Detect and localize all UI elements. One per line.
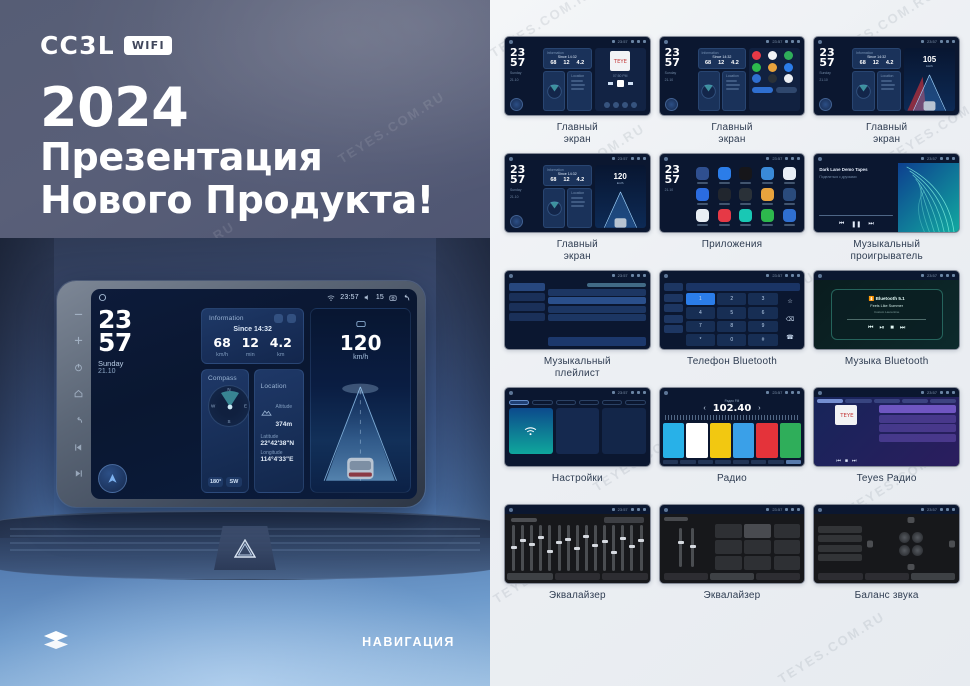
balance-front-button xyxy=(908,517,915,523)
wifi-icon xyxy=(766,274,769,277)
gallery-item[interactable]: 23:57 Настройки xyxy=(504,387,651,500)
volume-icon xyxy=(940,508,943,511)
app-label xyxy=(719,224,730,226)
app-label xyxy=(784,203,795,205)
next-icon xyxy=(628,82,633,85)
thumb-music-playlist[interactable]: 23:57 xyxy=(504,270,651,350)
eq-footer-tab xyxy=(756,573,800,580)
dialpad-key: 1 xyxy=(686,293,715,305)
volume-icon[interactable] xyxy=(364,294,371,301)
radio-tool-button xyxy=(733,460,749,464)
thumb-music-player[interactable]: 23:57 Dark Lane Demo Tapes Поделиться с … xyxy=(813,153,960,233)
gallery-item-caption: Радио xyxy=(717,473,747,498)
app-icon xyxy=(739,209,752,222)
home-icon xyxy=(509,157,513,161)
thumb-bluetooth-music[interactable]: 23:57 ⏫ Bluetooth 5.1 Feels Like Summer … xyxy=(813,270,960,350)
playlist-track-row xyxy=(548,289,646,296)
volume-icon xyxy=(631,40,634,43)
playlist-now-playing-bar xyxy=(548,337,646,346)
layers-icon[interactable] xyxy=(43,630,69,652)
compass-needle-icon xyxy=(209,386,251,428)
compass-widget[interactable]: Compass N E S W xyxy=(201,369,249,494)
wifi-icon xyxy=(612,274,615,277)
application-item xyxy=(758,209,777,226)
thumb-time: 23:57 xyxy=(618,507,628,512)
screenshot-icon xyxy=(791,391,794,394)
bt-progress-bar xyxy=(847,319,926,320)
next-track-icon[interactable] xyxy=(74,469,83,478)
eq-band-slider xyxy=(576,525,579,571)
next-icon: ⏭ xyxy=(900,325,905,332)
wifi-icon[interactable] xyxy=(327,294,335,302)
thumb-home-screen-media[interactable]: 23:57 23 57 Sunday 21.10 Information Sin… xyxy=(504,36,651,116)
dialpad-key: 9 xyxy=(748,321,777,333)
minus-icon[interactable] xyxy=(74,310,83,319)
wifi-badge: WIFI xyxy=(124,36,172,55)
thumb-home-screen-nav[interactable]: 23:57 23 57 Sunday 21.10 Information Sin… xyxy=(504,153,651,233)
thumb-status-bar: 23:57 xyxy=(505,154,650,163)
app-icon xyxy=(761,167,774,180)
eq-slider-knob xyxy=(592,544,598,547)
head-unit-screen[interactable]: 23:57 15 23 xyxy=(91,289,417,499)
eq-preset-button xyxy=(774,540,801,554)
hd-icon xyxy=(356,320,366,328)
eq-footer-tab xyxy=(555,573,601,580)
wifi-icon xyxy=(921,40,924,43)
teyes-controls: ⏮■⏭ xyxy=(836,458,856,464)
thumb-media-extra xyxy=(604,102,637,108)
home-icon xyxy=(664,40,668,44)
balance-body xyxy=(818,517,955,570)
eq-band-slider xyxy=(630,525,633,571)
thumb-compass-widget xyxy=(852,71,874,111)
trip-since-label: Since 14:32 xyxy=(208,326,297,333)
prev-icon: ⏮ xyxy=(839,221,844,228)
wifi-icon xyxy=(612,508,615,511)
thumb-time: 23:57 xyxy=(772,273,782,278)
volume-icon xyxy=(785,40,788,43)
volume-icon xyxy=(631,391,634,394)
thumb-bluetooth-phone[interactable]: 23:57 123456789*0# ☆ ⌫ xyxy=(659,270,806,350)
screenshot-icon xyxy=(791,157,794,160)
gallery-item[interactable]: 23:57 Музыкальныйплейлист xyxy=(504,270,651,383)
application-item xyxy=(736,188,755,205)
settings-tab xyxy=(602,400,622,405)
radio-frequency: 102.40 xyxy=(713,403,752,414)
settings-tabs xyxy=(509,400,646,405)
eq-band-slider xyxy=(594,525,597,571)
navigation-arrow-icon xyxy=(106,472,119,485)
thumb-phone-sidebar xyxy=(664,283,683,346)
dialpad-key: 6 xyxy=(748,307,777,319)
eq-preset-grid xyxy=(715,524,800,570)
prev-track-icon[interactable] xyxy=(74,443,83,452)
screenshot-icon xyxy=(946,508,949,511)
application-item xyxy=(736,167,755,184)
thumb-clock-day: Sunday xyxy=(819,71,849,75)
power-icon[interactable] xyxy=(74,363,83,372)
eq-preset-selector xyxy=(604,517,644,523)
home-icon[interactable] xyxy=(98,293,107,302)
eq-preset-button xyxy=(715,556,742,570)
teyes-station-row xyxy=(879,415,956,423)
thumb-stat-value: 12 xyxy=(563,177,569,183)
application-item xyxy=(715,167,734,184)
thumb-time: 23:57 xyxy=(772,390,782,395)
balance-footer-tab xyxy=(865,573,909,580)
thumb-road-graphic xyxy=(595,190,646,228)
thumb-sound-balance[interactable]: 23:57 xyxy=(813,504,960,584)
settings-icon[interactable] xyxy=(274,314,283,323)
balance-value-list xyxy=(818,517,862,570)
navigation-arrow-icon xyxy=(819,98,832,111)
thumb-stat-value: 4.2 xyxy=(577,177,585,183)
gallery-item[interactable]: 23:57 Эквалайзер xyxy=(659,504,806,617)
gallery-item-caption: Телефон Bluetooth xyxy=(687,356,777,381)
gallery-item[interactable]: 23:57 Эквалайзер xyxy=(504,504,651,617)
thumb-trip-since: Since 14:32 xyxy=(547,55,588,59)
compass-title: Compass xyxy=(208,375,242,382)
back-arrow-icon xyxy=(952,40,955,43)
thumb-drive-view: 120 km/h xyxy=(595,165,646,228)
trip-stat: 68 km/h xyxy=(213,337,230,358)
home-icon xyxy=(818,391,822,395)
settings-tab xyxy=(556,400,576,405)
gallery-item-caption: Главныйэкран xyxy=(711,122,752,147)
home-icon[interactable] xyxy=(74,389,83,398)
gallery-item[interactable]: 23:57 TEYES ⏮■⏭ xyxy=(813,387,960,500)
svg-text:TEYES: TEYES xyxy=(613,59,627,65)
app-label xyxy=(740,224,751,226)
volume-icon xyxy=(785,391,788,394)
thumb-clock-day: Sunday xyxy=(510,188,540,192)
thumb-information-card: Information Since 14:32 68124.2 xyxy=(543,48,592,69)
playlist-track-row xyxy=(548,306,646,313)
eq-band-slider xyxy=(512,525,515,571)
app-icon xyxy=(784,63,793,72)
chevron-left-icon: ‹ xyxy=(703,405,705,412)
thumb-track-title: Dark Lane Demo Tapes xyxy=(819,167,893,172)
app-icon xyxy=(784,74,793,83)
hero-footer: НАВИГАЦИЯ xyxy=(0,600,490,686)
teyes-tab xyxy=(845,399,871,403)
radio-tool-button xyxy=(663,460,679,464)
bluetooth-badge: ⏫ Bluetooth 5.1 xyxy=(869,296,905,302)
eq-band-slider xyxy=(612,525,615,571)
information-title: Information xyxy=(209,315,244,322)
latitude-row: Latitude 22°42'38"N xyxy=(261,434,298,447)
thumb-clock-day: Sunday xyxy=(665,71,695,75)
play-pause-icon: ⏯ xyxy=(879,325,884,332)
gallery-item[interactable]: 23:57 23 57 Sunday 21.10 Information Sin… xyxy=(504,36,651,149)
thumb-home-screen-apps[interactable]: 23:57 23 57 Sunday 21.10 Information Sin… xyxy=(659,36,806,116)
equalizer-sliders xyxy=(507,525,648,571)
application-item xyxy=(758,167,777,184)
eq-slider-knob xyxy=(538,536,544,539)
thumb-track-time: 07:50 PM xyxy=(613,74,628,78)
eq-footer-tab xyxy=(602,573,648,580)
app-icon xyxy=(783,209,796,222)
eq-preset-button xyxy=(774,524,801,538)
eq-band-slider xyxy=(521,525,524,571)
car-graphic xyxy=(347,458,373,479)
back-arrow-icon xyxy=(797,508,800,511)
thumb-player-info: Dark Lane Demo Tapes Поделиться с друзья… xyxy=(814,163,898,232)
longitude-value: 114°4'33"E xyxy=(261,456,298,463)
eq-slider-knob xyxy=(547,550,553,553)
thumb-information-card: Information Since 14:32 68124.2 xyxy=(852,48,901,69)
dialpad-key: 4 xyxy=(686,307,715,319)
eq-footer-tab xyxy=(507,573,553,580)
thumb-speed-value: 120 xyxy=(595,172,646,181)
volume-icon xyxy=(940,157,943,160)
eq-preset-button xyxy=(744,556,771,570)
thumb-status-bar: 23:57 xyxy=(660,388,805,397)
gallery-item[interactable]: 23:57 23 57 21.10 Приложения xyxy=(659,153,806,266)
screen-body: 23 57 Sunday 21.10 xyxy=(91,306,417,499)
thumb-media-controls xyxy=(608,80,633,87)
radio-preset-tile xyxy=(756,423,777,458)
call-history-icon xyxy=(664,315,683,323)
thumb-clock-date: 21.10 xyxy=(819,78,849,82)
eq-slider-knob xyxy=(556,541,562,544)
wifi-icon xyxy=(612,157,615,160)
album-art-icon: TEYES xyxy=(610,51,630,71)
thumb-equalizer-presets[interactable]: 23:57 xyxy=(659,504,806,584)
status-bar: 23:57 15 xyxy=(91,289,417,306)
back-arrow-icon[interactable] xyxy=(402,294,410,302)
screenshot-icon xyxy=(946,274,949,277)
balance-value-row xyxy=(818,554,862,561)
thumb-settings[interactable]: 23:57 xyxy=(504,387,651,467)
application-item xyxy=(693,188,712,205)
call-icon: ☎ xyxy=(786,334,793,341)
thumb-radio[interactable]: 23:57 Радио FM ‹ 102.40 › xyxy=(659,387,806,467)
eq-band-slider xyxy=(539,525,542,571)
settings-tab xyxy=(625,400,645,405)
settings-cards xyxy=(509,408,646,454)
thumb-status-bar: 23:57 xyxy=(814,154,959,163)
back-arrow-icon xyxy=(643,391,646,394)
thumb-media-widget: TEYES 07:50 PM xyxy=(595,48,646,111)
thumb-trip-stats: 68124.2 xyxy=(547,177,588,183)
gallery-item[interactable]: 23:57 Dark Lane Demo Tapes Поделиться с … xyxy=(813,153,960,266)
thumb-teyes-radio[interactable]: 23:57 TEYES ⏮■⏭ xyxy=(813,387,960,467)
volume-icon xyxy=(940,274,943,277)
thumb-time: 23:57 xyxy=(927,273,937,278)
bt-track-artist: Custom Laurentine xyxy=(874,310,899,314)
eq-preset-button xyxy=(774,556,801,570)
back-icon[interactable] xyxy=(74,416,83,425)
head-unit-device: 23:57 15 23 xyxy=(57,281,425,507)
gallery-item[interactable]: 23:57 123456789*0# ☆ ⌫ xyxy=(659,270,806,383)
app-label xyxy=(740,203,751,205)
eq-slider-knob xyxy=(620,537,626,540)
radio-preset-tile xyxy=(780,423,801,458)
application-item xyxy=(780,188,799,205)
drive-view-widget[interactable]: 120 km/h xyxy=(310,308,411,493)
radio-tool-button xyxy=(786,460,802,464)
app-label xyxy=(697,203,708,205)
eq-slider-knob xyxy=(629,545,635,548)
plus-icon[interactable] xyxy=(74,336,83,345)
app-label xyxy=(762,203,773,205)
back-arrow-icon xyxy=(952,508,955,511)
eq-footer-tabs xyxy=(664,573,801,580)
home-icon xyxy=(818,274,822,278)
radio-tool-button xyxy=(715,460,731,464)
thumb-location-widget: Location xyxy=(722,71,746,111)
app-icon xyxy=(696,209,709,222)
thumb-widgets-row: Location xyxy=(852,71,901,111)
app-label xyxy=(697,224,708,226)
media-icon xyxy=(613,102,619,108)
eq-slider-knob xyxy=(678,541,684,544)
gallery-item-caption: Настройки xyxy=(552,473,603,498)
radio-tuner: ‹ 102.40 › xyxy=(663,403,802,414)
thumb-information-card: Information Since 14:32 68124.2 xyxy=(543,165,592,186)
compass-heading: 180° xyxy=(208,477,223,487)
gallery-item[interactable]: 23:57 23 57 Sunday 21.10 Information Sin… xyxy=(659,36,806,149)
thumb-visualizer xyxy=(898,163,959,232)
teyes-tab xyxy=(874,399,900,403)
hardware-button-bar[interactable] xyxy=(67,295,89,493)
gallery-item[interactable]: 23:57 xyxy=(813,504,960,617)
balance-footer-tab xyxy=(911,573,955,580)
next-icon: ⏭ xyxy=(868,221,873,228)
thumb-stat-value: 68 xyxy=(550,60,556,66)
thumb-clock-widget: 23 57 21.10 xyxy=(665,165,689,228)
thumb-status-bar: 23:57 xyxy=(505,388,650,397)
altitude-label: Altitude xyxy=(276,404,293,410)
thumb-trip-stats: 68124.2 xyxy=(702,60,743,66)
information-actions[interactable] xyxy=(274,314,296,323)
thumb-widgets-row: Location xyxy=(543,71,592,111)
gallery-item[interactable]: 23:57 23 57 Sunday 21.10 Information Sin… xyxy=(504,153,651,266)
eq-band-slider xyxy=(585,525,588,571)
hazard-triangle-icon xyxy=(234,539,256,558)
app-icon xyxy=(696,188,709,201)
gallery-item[interactable]: 23:57 Радио FM ‹ 102.40 › Радио xyxy=(659,387,806,500)
speed-unit: km/h xyxy=(311,354,410,361)
thumb-clock-widget: 23 57 Sunday 21.10 xyxy=(510,48,540,111)
teyes-station-row xyxy=(879,424,956,432)
app-icon xyxy=(783,167,796,180)
home-icon xyxy=(664,391,668,395)
home-icon xyxy=(509,40,513,44)
gallery-item[interactable]: 23:57 ⏫ Bluetooth 5.1 Feels Like Summer … xyxy=(813,270,960,383)
app-label xyxy=(740,182,751,184)
thumb-equalizer[interactable]: 23:57 xyxy=(504,504,651,584)
speaker-icon xyxy=(912,532,923,543)
dialpad-key: 3 xyxy=(748,293,777,305)
contacts-icon xyxy=(664,294,683,302)
stat-value: 4.2 xyxy=(270,337,292,350)
eq-band-slider xyxy=(640,525,643,571)
stat-unit: min xyxy=(246,352,255,358)
app-label xyxy=(719,203,730,205)
stat-value: 12 xyxy=(242,337,259,350)
album-art-icon: TEYES xyxy=(835,405,857,425)
thumb-time: 23:57 xyxy=(618,273,628,278)
star-icon: ☆ xyxy=(787,298,792,305)
expand-icon[interactable] xyxy=(287,314,296,323)
screenshot-icon[interactable] xyxy=(389,294,397,302)
application-item xyxy=(780,167,799,184)
navigation-arrow-icon xyxy=(510,98,523,111)
thumb-dock xyxy=(752,87,797,93)
wifi-icon xyxy=(921,157,924,160)
eq-slider-knob xyxy=(690,545,696,548)
eq-band-slider xyxy=(621,525,624,571)
dialpad-key: 2 xyxy=(717,293,746,305)
gallery-item[interactable]: 23:57 23 57 Sunday 21.10 Information Sin… xyxy=(813,36,960,149)
eq-band-slider xyxy=(530,525,533,571)
eq-band-slider xyxy=(679,528,682,567)
location-widget[interactable]: Location Altitude 374m xyxy=(254,369,305,494)
back-arrow-icon xyxy=(797,274,800,277)
thumb-info-column: Information Since 14:32 68124.2 Location xyxy=(543,48,592,111)
brand-logo: CC3L WIFI xyxy=(40,31,172,60)
drive-column: 120 km/h xyxy=(310,308,411,493)
information-card[interactable]: Information Since 14:32 68 km/h xyxy=(201,308,304,364)
more-setting-card xyxy=(602,408,646,454)
speaker-icon xyxy=(912,545,923,556)
clock-widget[interactable]: 23 57 Sunday 21.10 xyxy=(98,308,195,493)
thumb-compass-widget xyxy=(698,71,720,111)
eq-band-slider xyxy=(567,525,570,571)
thumb-status-bar: 23:57 xyxy=(660,505,805,514)
settings-tab xyxy=(509,400,529,405)
gallery-item-caption: Музыкальныйпроигрыватель xyxy=(850,239,922,264)
compass-values: 180° SW xyxy=(208,477,242,487)
home-icon xyxy=(664,508,668,512)
hazard-light-button[interactable] xyxy=(214,526,276,570)
app-icon xyxy=(718,209,731,222)
progress-bar xyxy=(819,215,893,217)
headline-line-2: Нового Продукта! xyxy=(40,179,434,222)
application-item xyxy=(736,209,755,226)
teyes-station-list xyxy=(879,405,956,464)
thumb-clock-minutes: 57 xyxy=(665,175,689,185)
app-icon xyxy=(752,51,761,60)
gallery-item-caption: Эквалайзер xyxy=(549,590,606,615)
app-icon xyxy=(768,51,777,60)
thumb-playlist-tracks xyxy=(548,283,646,346)
screenshot-icon xyxy=(791,274,794,277)
volume-icon xyxy=(631,274,634,277)
gallery-item-caption: Музыка Bluetooth xyxy=(845,356,929,381)
status-volume-level: 15 xyxy=(376,294,384,301)
gallery-item-caption: Приложения xyxy=(702,239,763,264)
thumb-phone-main: 123456789*0# ☆ ⌫ ☎ xyxy=(686,283,801,346)
bt-controls: ⏮⏯■⏭ xyxy=(868,325,905,332)
thumb-applications[interactable]: 23:57 23 57 21.10 xyxy=(659,153,806,233)
thumb-time: 23:57 xyxy=(927,390,937,395)
home-icon xyxy=(818,40,822,44)
app-icon xyxy=(739,188,752,201)
playlist-track-row xyxy=(548,314,646,321)
balance-footer-tabs xyxy=(818,573,955,580)
pause-icon: ❚❚ xyxy=(851,221,861,228)
back-arrow-icon xyxy=(797,40,800,43)
thumb-clock-widget: 23 57 Sunday 21.10 xyxy=(665,48,695,111)
thumb-home-screen-drive[interactable]: 23:57 23 57 Sunday 21.10 Information Sin… xyxy=(813,36,960,116)
stat-unit: km xyxy=(277,352,284,358)
volume-icon xyxy=(785,274,788,277)
screenshot-icon xyxy=(791,40,794,43)
navigation-shortcut-button[interactable] xyxy=(98,464,127,493)
